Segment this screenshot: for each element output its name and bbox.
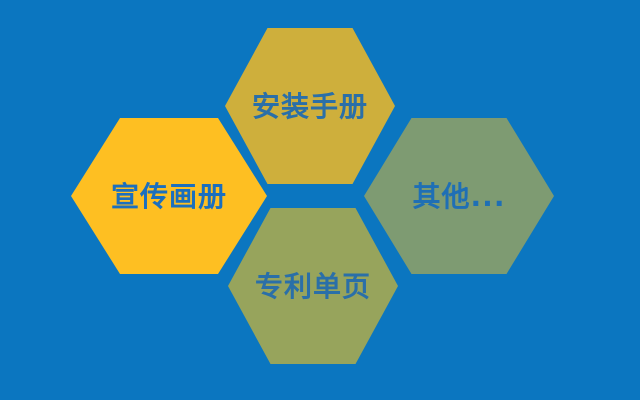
hexagon-diagram-svg	[0, 0, 640, 400]
diagram-canvas: 宣传画册 安装手册 专利单页 其他...	[0, 0, 640, 400]
